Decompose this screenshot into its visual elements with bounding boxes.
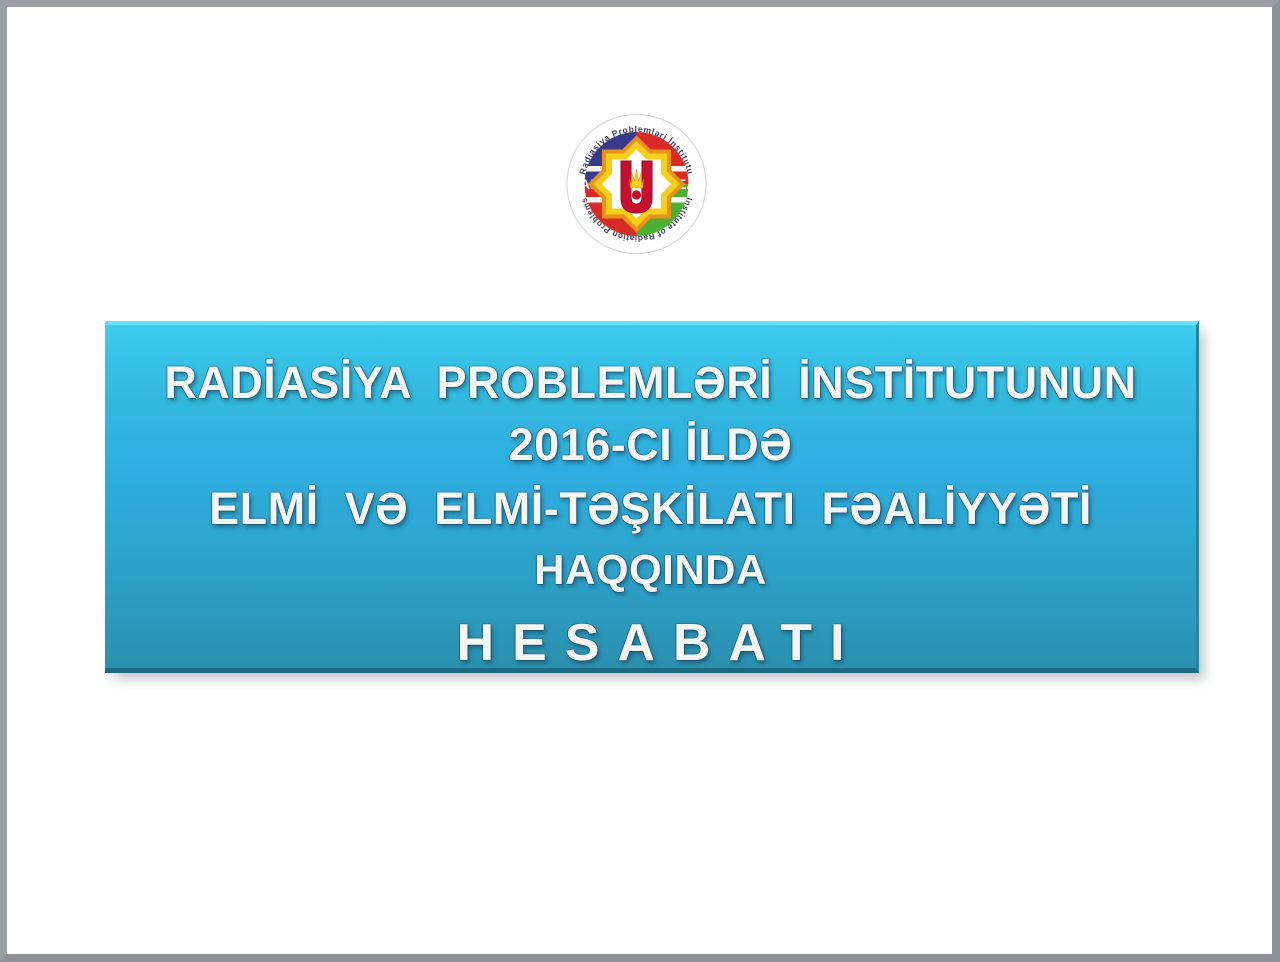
slide-frame: Radiasiya Problemləri İnstitutu Institut… — [0, 0, 1280, 962]
title-line-institute: RADİASİYA PROBLEMLƏRİ İNSTİTUTUNUN — [105, 360, 1196, 405]
title-line-report: HESABATI — [105, 617, 1196, 669]
u-dot — [632, 190, 641, 199]
slide-canvas: Radiasiya Problemləri İnstitutu Institut… — [7, 7, 1272, 954]
amea-institute-logo: Radiasiya Problemləri İnstitutu Institut… — [544, 109, 729, 259]
title-banner: RADİASİYA PROBLEMLƏRİ İNSTİTUTUNUN 2016-… — [105, 321, 1199, 673]
title-line-about: HAQQINDA — [105, 549, 1196, 591]
title-line-activity: ELMİ VƏ ELMİ-TƏŞKİLATI FƏALİYYƏTİ — [105, 486, 1196, 531]
logo-svg: Radiasiya Problemləri İnstitutu Institut… — [544, 109, 729, 259]
title-line-year: 2016-CI İLDƏ — [105, 422, 1196, 467]
